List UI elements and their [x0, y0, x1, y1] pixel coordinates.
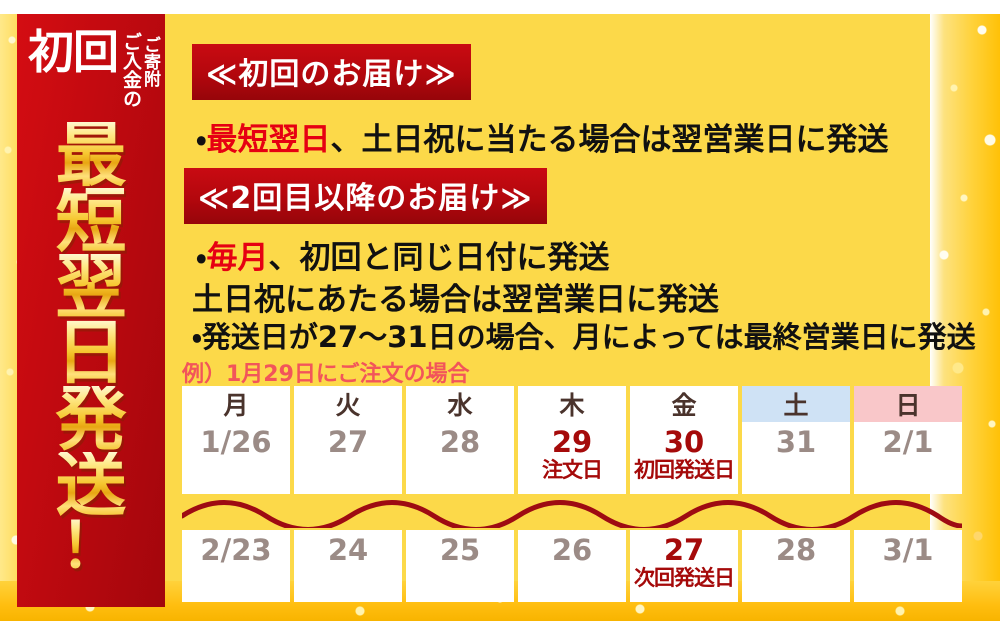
- weekday-header-sun: 日: [854, 386, 962, 422]
- subsequent-line-3: ・発送日が27〜31日の場合、月によっては最終営業日に発送: [192, 314, 976, 356]
- date-number: 29: [552, 426, 592, 458]
- calendar-cell: 28: [742, 530, 850, 602]
- date-number: 28: [776, 534, 816, 566]
- calendar-cell: 26: [518, 530, 626, 602]
- weekday-header-sat: 土: [742, 386, 850, 422]
- date-tag: 次回発送日: [634, 566, 734, 590]
- bullet-mark-2: ・: [196, 240, 207, 276]
- date-tag: 初回発送日: [634, 458, 734, 482]
- first-delivery-rest: 、土日祝に当たる場合は翌営業日に発送: [331, 122, 889, 158]
- left-banner-eyebrow-columns: ご寄附 ご入金の: [120, 32, 158, 108]
- calendar-header-row: 月 火 水 木 金 土 日: [182, 386, 962, 422]
- subsequent-rest-1: 、初回と同じ日付に発送: [269, 240, 610, 276]
- left-banner-headline-top: 初回: [28, 30, 118, 74]
- gold-char-6: ！: [60, 518, 122, 574]
- date-number: 25: [440, 534, 480, 566]
- date-number: 3/1: [883, 534, 934, 566]
- calendar-cell: 3/1: [854, 530, 962, 602]
- subsequent-line-1: ・毎月、初回と同じ日付に発送: [196, 232, 610, 277]
- calendar-cell-first-shipping-day: 30 初回発送日: [630, 422, 738, 494]
- weekday-header-wed: 水: [406, 386, 514, 422]
- wavy-divider-icon: [182, 496, 962, 528]
- date-number: 28: [440, 426, 480, 458]
- calendar-cell: 28: [406, 422, 514, 494]
- date-number: 26: [552, 534, 592, 566]
- weekday-header-mon: 月: [182, 386, 290, 422]
- date-number: 2/1: [883, 426, 934, 458]
- calendar-week-row-1: 1/26 27 28 29 注文日 30 初回発送日: [182, 422, 962, 494]
- weekday-header-fri: 金: [630, 386, 738, 422]
- left-banner-eyebrow-group: 初回 ご寄附 ご入金の: [17, 30, 165, 122]
- section-badge-first-delivery: ≪初回のお届け≫: [192, 44, 471, 100]
- weekday-header-tue: 火: [294, 386, 402, 422]
- date-number: 30: [664, 426, 704, 458]
- subsequent-line-2: 土日祝にあたる場合は翌営業日に発送: [192, 274, 719, 319]
- subsequent-highlight: 毎月: [207, 240, 269, 276]
- date-number: 31: [776, 426, 816, 458]
- promo-banner: 初回 ご寄附 ご入金の 最 短 翌 日 発 送 ！ ≪初回のお届け≫ ・最短翌日…: [0, 0, 1000, 621]
- calendar-cell: 2/1: [854, 422, 962, 494]
- left-banner-gold-headline: 最 短 翌 日 発 送 ！: [17, 122, 165, 574]
- date-number: 24: [328, 534, 368, 566]
- weekday-header-thu: 木: [518, 386, 626, 422]
- calendar-cell-order-day: 29 注文日: [518, 422, 626, 494]
- section-badge-subsequent-delivery: ≪2回目以降のお届け≫: [184, 168, 547, 224]
- date-tag: 注文日: [542, 458, 602, 482]
- date-number: 2/23: [200, 534, 271, 566]
- eyebrow-nyukin: ご入金の: [121, 32, 140, 108]
- content-column: ≪初回のお届け≫ ・最短翌日、土日祝に当たる場合は翌営業日に発送 ≪2回目以降の…: [178, 14, 978, 607]
- date-number: 27: [664, 534, 704, 566]
- left-red-banner: 初回 ご寄附 ご入金の 最 短 翌 日 発 送 ！: [17, 14, 165, 607]
- calendar-cell: 1/26: [182, 422, 290, 494]
- eyebrow-kifu: ご寄附: [141, 32, 158, 87]
- first-delivery-highlight: 最短翌日: [207, 122, 331, 158]
- bullet-mark: ・: [196, 122, 207, 158]
- calendar-cell: 27: [294, 422, 402, 494]
- calendar-cell: 31: [742, 422, 850, 494]
- calendar-cell: 24: [294, 530, 402, 602]
- date-number: 1/26: [200, 426, 271, 458]
- calendar-cell: 2/23: [182, 530, 290, 602]
- top-white-strip: [0, 0, 1000, 14]
- date-number: 27: [328, 426, 368, 458]
- example-note: 例）1月29日にご注文の場合: [182, 356, 469, 388]
- first-delivery-line: ・最短翌日、土日祝に当たる場合は翌営業日に発送: [196, 114, 889, 159]
- calendar-week-row-2: 2/23 24 25 26 27 次回発送日: [182, 530, 962, 602]
- calendar-cell-next-shipping-day: 27 次回発送日: [630, 530, 738, 602]
- calendar-cell: 25: [406, 530, 514, 602]
- example-calendar: 月 火 水 木 金 土 日 1/26 27 28: [182, 386, 962, 602]
